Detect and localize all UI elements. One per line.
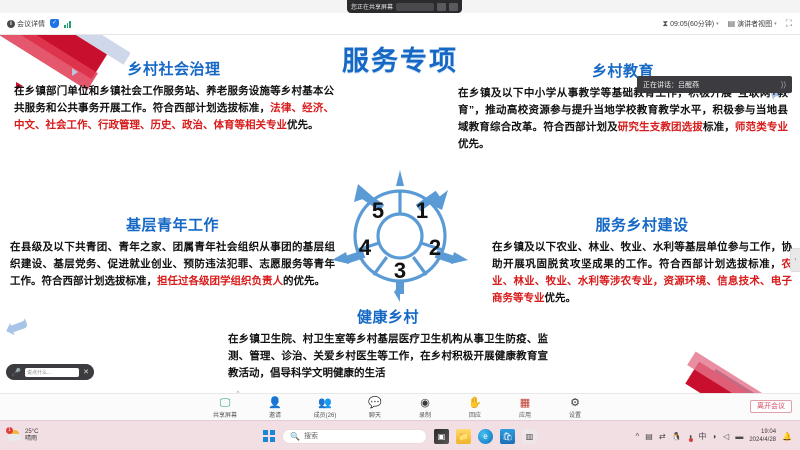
toolbar-label-reaction: 回应 [469,410,481,419]
taskbar-folder-icon[interactable]: 📁 [456,429,471,444]
meeting-bottom-toolbar: 🖵 共享屏幕 ^ 👤 邀请 👥 成员(26) 💬 聊天 ◉ 录制 [0,393,800,421]
block-body-3: 在县级及以下共青团、青年之家、团属青年社会组织从事团的基层组织建设、基层党务、促… [10,239,335,290]
wheel-number-2: 2 [429,235,441,260]
block-heading-5: 健康乡村 [228,306,548,327]
toolbar-share-screen-button[interactable]: 🖵 共享屏幕 ^ [208,397,242,419]
taskbar-search-input[interactable]: 🔍 搜索 [282,429,427,444]
info-icon: i [7,20,15,28]
block-body-1: 在乡镇部门单位和乡镇社会工作服务站、养老服务设施等乡村基本公共服务和公共事务开展… [14,83,334,134]
chevron-down-icon-2[interactable]: ▾ [774,21,777,27]
meeting-info-button[interactable]: i 会议详情 [7,19,45,29]
block-body-4: 在乡镇及以下农业、林业、牧业、水利等基层单位参与工作，协助开展巩固脱贫攻坚成果的… [492,239,792,307]
toolbar-label-share: 共享屏幕 [213,410,237,419]
panel-collapse-tab[interactable]: ‹ [790,248,800,272]
layout-icon: ▤ [728,19,736,28]
topbar-right-group: ⧗ 09:05(60分钟) ▾ ▤ 演讲者视图 ▾ ⛶ [663,18,800,29]
invite-person-icon: 👤 [268,397,282,409]
toolbar-members-button[interactable]: 👥 成员(26) [308,397,342,419]
shared-slide-area: ➦ ➦ 服务专项 乡村社会治理 在乡镇部门单位和乡镇社会工作服务站、养老服务设施… [0,34,800,408]
taskbar-microsoft-store-icon[interactable]: 🛍 [500,429,515,444]
apps-grid-icon: ▦ [520,397,530,409]
meeting-info-label: 会议详情 [17,19,45,29]
quick-chat-bar[interactable]: 🎤 说点什么… ✕ [6,364,94,380]
wheel-number-5: 5 [372,198,384,223]
taskbar-task-view-icon[interactable]: ▣ [434,429,449,444]
layout-label: 演讲者视图 [737,19,772,29]
taskbar-chart-app-icon[interactable]: ▥ [522,429,537,444]
toolbar-reaction-button[interactable]: ✋ 回应 [458,397,492,419]
block-grassroots-youth-work: 基层青年工作 在县级及以下共青团、青年之家、团属青年社会组织从事团的基层组织建设… [10,214,335,290]
screen-root: 您正在共享屏幕 i 会议详情 ✓ ⧗ 09:05(60分钟) ▾ ▤ 演讲者视图… [0,0,800,450]
toolbar-label-record: 录制 [419,410,431,419]
chevron-down-icon[interactable]: ▾ [716,21,719,27]
share-pill-progress [396,3,434,11]
block-rural-education: 乡村教育 在乡镇及以下中小学从事教学等基础教育工作，积极开展“互联网+教育”，推… [458,60,788,153]
toolbar-label-members: 成员(26) [314,410,337,419]
block-body-5: 在乡镇卫生院、村卫生室等乡村基层医疗卫生机构从事卫生防疫、监测、管理、诊治、关爱… [228,331,548,382]
toolbar-label-apps: 应用 [519,410,531,419]
sound-wave-icon: )) [781,80,786,89]
gear-icon: ⚙ [570,397,580,409]
block-heading-3: 基层青年工作 [10,214,335,235]
block-heading-4: 服务乡村建设 [492,214,792,235]
quick-chat-placeholder: 说点什么… [27,369,52,376]
toolbar-chat-button[interactable]: 💬 聊天 [358,397,392,419]
block-heading-1: 乡村社会治理 [14,58,334,79]
wheel-number-3: 3 [394,258,406,283]
mic-icon[interactable]: 🎤 [11,368,21,377]
stop-share-icon[interactable] [437,3,446,11]
toolbar-label-chat: 聊天 [369,410,381,419]
toolbar-settings-button[interactable]: ⚙ 设置 [558,397,592,419]
record-circle-icon: ◉ [420,397,430,409]
hourglass-icon: ⧗ [663,19,669,29]
windows-taskbar: 1 25°C 晴雨 🔍 搜索 ▣ 📁 e 🛍 ▥ ^ ▤ ⇄ 🐧 ◑ [0,420,800,450]
hand-reaction-icon: ✋ [468,397,482,409]
taskbar-search-placeholder: 搜索 [304,431,318,441]
active-speaker-label: 正在讲话：吕醒燕 [643,80,699,90]
share-options-caret-icon[interactable]: ^ [237,391,240,397]
meeting-timer[interactable]: ⧗ 09:05(60分钟) ▾ [663,19,719,29]
toolbar-label-settings: 设置 [569,410,581,419]
signal-bars-icon[interactable] [64,20,71,28]
taskbar-center-group: 🔍 搜索 ▣ 📁 e 🛍 ▥ [0,421,800,450]
center-wheel-diagram: 1 2 3 4 5 [332,168,468,304]
block-serve-rural-construction: 服务乡村建设 在乡镇及以下农业、林业、牧业、水利等基层单位参与工作，协助开展巩固… [492,214,792,307]
shield-icon[interactable]: ✓ [50,19,59,28]
meeting-app-icon[interactable]: ◑ [687,432,692,441]
quick-chat-input[interactable]: 说点什么… [25,368,79,377]
block-rural-social-governance: 乡村社会治理 在乡镇部门单位和乡镇社会工作服务站、养老服务设施等乡村基本公共服务… [14,58,334,134]
block-healthy-countryside: 健康乡村 在乡镇卫生院、村卫生室等乡村基层医疗卫生机构从事卫生防疫、监测、管理、… [228,306,548,382]
topbar-left-group: i 会议详情 ✓ [0,19,71,29]
wheel-number-1: 1 [416,198,428,223]
toolbar-apps-button[interactable]: ▦ 应用 [508,397,542,419]
screen-share-pill[interactable]: 您正在共享屏幕 [347,0,462,13]
toolbar-label-invite: 邀请 [269,410,281,419]
fullscreen-icon[interactable]: ⛶ [786,18,792,29]
close-icon[interactable]: ✕ [83,368,89,376]
leave-meeting-button[interactable]: 离开会议 [750,400,792,413]
meeting-timer-label: 09:05(60分钟) [670,19,714,29]
share-pill-label: 您正在共享屏幕 [351,2,393,11]
block-body-2: 在乡镇及以下中小学从事教学等基础教育工作，积极开展“互联网+教育”，推动高校资源… [458,85,788,153]
members-icon: 👥 [318,397,332,409]
layout-selector[interactable]: ▤ 演讲者视图 ▾ [728,19,777,29]
panel-icon[interactable] [449,3,458,11]
decor-arrow-left-icon: ➦ [0,309,34,346]
toolbar-button-group: 🖵 共享屏幕 ^ 👤 邀请 👥 成员(26) 💬 聊天 ◉ 录制 [0,394,800,421]
wheel-number-4: 4 [359,235,372,260]
search-icon: 🔍 [290,432,300,441]
chat-bubble-icon: 💬 [368,397,382,409]
windows-start-icon[interactable] [263,430,275,442]
meeting-topbar: i 会议详情 ✓ ⧗ 09:05(60分钟) ▾ ▤ 演讲者视图 ▾ ⛶ [0,13,800,35]
toolbar-record-button[interactable]: ◉ 录制 [408,397,442,419]
taskbar-edge-browser-icon[interactable]: e [478,429,493,444]
toolbar-invite-button[interactable]: 👤 邀请 [258,397,292,419]
screen-share-icon: 🖵 [220,397,231,409]
active-speaker-chip: 正在讲话：吕醒燕 )) [637,76,792,93]
